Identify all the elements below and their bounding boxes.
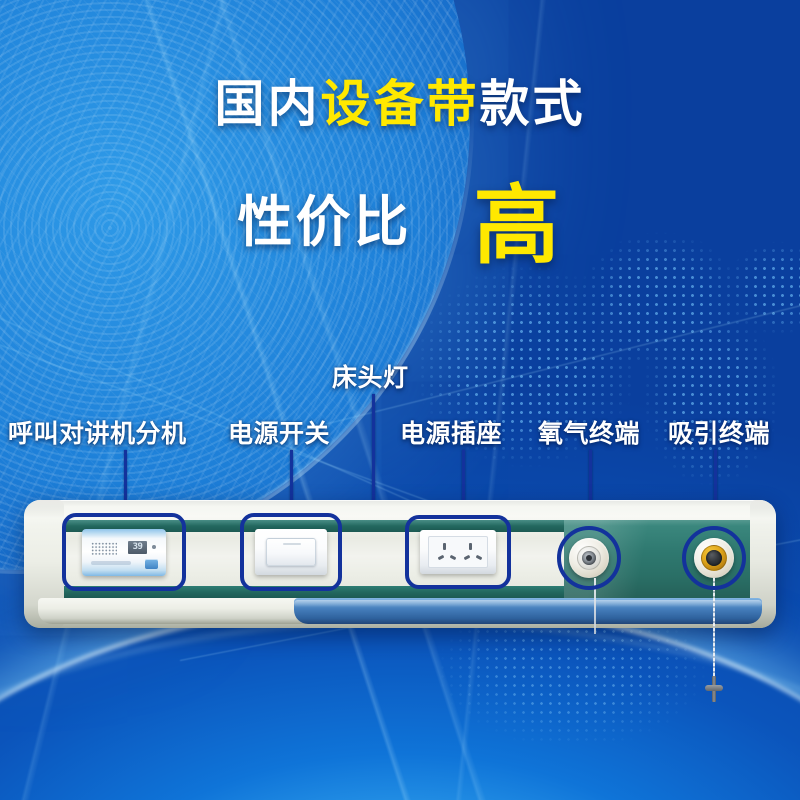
callout-label-suction-outlet: 吸引终端 (668, 414, 770, 450)
callout-label-power-switch: 电源开关 (228, 414, 330, 450)
callout-label-bed-lamp: 床头灯 (332, 358, 409, 394)
pull-cord-cross (705, 685, 723, 691)
indicator-led-icon (152, 545, 156, 549)
switch-rocker-paddle[interactable] (266, 538, 316, 566)
oxygen-terminal-cord (594, 578, 596, 634)
socket-pin-slot (464, 555, 471, 560)
intercom-mic-slot (91, 561, 131, 565)
speaker-grille-icon (91, 542, 117, 555)
socket-pin-slot (443, 543, 446, 550)
panel-stripe-bottom (58, 586, 564, 598)
intercom-call-button[interactable] (145, 559, 158, 569)
socket-pin-slot (450, 555, 457, 560)
power-socket-unit[interactable] (420, 530, 496, 574)
pull-cord-handle[interactable] (705, 676, 723, 702)
callout-label-oxygen-outlet: 氧气终端 (538, 414, 640, 450)
oxygen-terminal-port (582, 551, 596, 565)
callout-label-power-socket: 电源插座 (400, 414, 502, 450)
socket-faceplate (428, 536, 488, 568)
callout-label-intercom: 呼叫对讲机分机 (8, 414, 187, 450)
panel-bottom-rail-blue-section (294, 598, 762, 624)
socket-pin-slot (469, 543, 472, 550)
socket-pin-slot (438, 555, 445, 560)
socket-pin-slot (476, 555, 483, 560)
intercom-display: 39 (128, 541, 147, 554)
power-switch-unit[interactable] (255, 529, 327, 575)
product-banner: 国内设备带款式 性价比高 呼叫对讲机分机 电源开关 床头灯 电源插座 氧气终端 … (0, 0, 800, 800)
suction-terminal-port (706, 550, 722, 566)
nurse-call-intercom-unit[interactable]: 39 (82, 529, 166, 576)
